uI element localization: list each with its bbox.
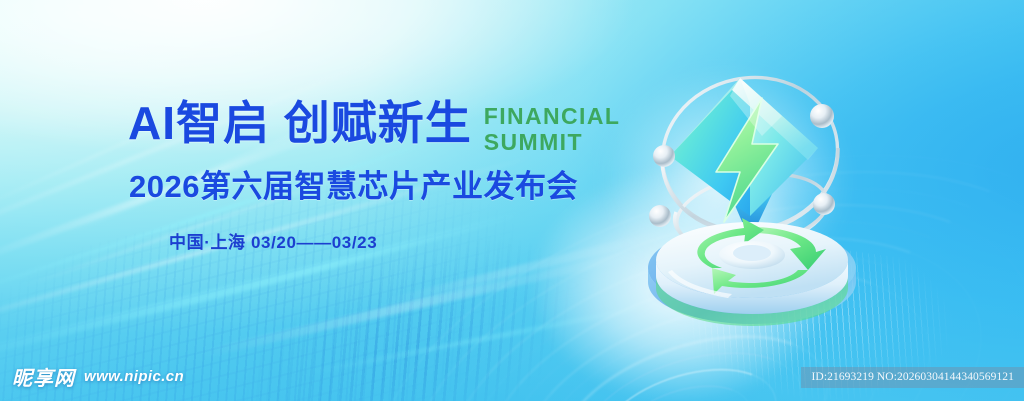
page-subtitle: 2026第六届智慧芯片产业发布会 (129, 161, 578, 206)
podium-hub-inner (733, 245, 771, 261)
event-poster-banner: AI智启 创赋新生 FINANCIAL SUMMIT 2026第六届智慧芯片产业… (0, 0, 1024, 401)
orbit-node-sphere (810, 104, 834, 128)
watermark: 昵享网 www.nipic.cn (12, 362, 184, 391)
event-meta-line: 中国·上海 03/20——03/23 (169, 228, 377, 253)
english-title-line1: FINANCIAL (484, 103, 621, 129)
energy-crystal-3d-illustration (612, 44, 882, 314)
orbit-node-sphere (813, 193, 835, 215)
watermark-logo: 昵享网 (12, 362, 75, 391)
english-title-line2: SUMMIT (484, 129, 621, 155)
english-title: FINANCIAL SUMMIT (484, 103, 621, 155)
status-badge: ID:21693219 NO:20260304144340569121 (801, 367, 1024, 388)
orbit-node-sphere (653, 145, 675, 167)
orbit-node-sphere (649, 205, 671, 227)
headline-row: AI智启 创赋新生 FINANCIAL SUMMIT (128, 99, 620, 155)
page-title: AI智启 创赋新生 (128, 99, 472, 147)
watermark-url: www.nipic.cn (84, 368, 184, 385)
copy-block: AI智启 创赋新生 FINANCIAL SUMMIT 2026第六届智慧芯片产业… (0, 0, 640, 401)
